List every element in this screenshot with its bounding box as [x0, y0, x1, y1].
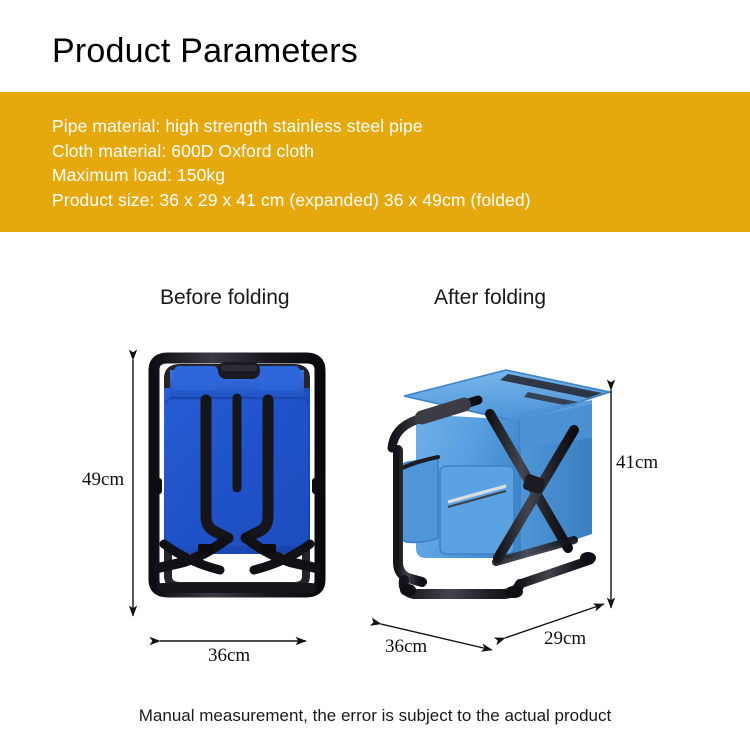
spec-product-size: Product size: 36 x 29 x 41 cm (expanded)…: [52, 188, 531, 213]
dimension-label-height-before: 49cm: [82, 469, 124, 491]
product-parameters-page: Product Parameters Pipe material: high s…: [0, 0, 750, 750]
spec-maximum-load: Maximum load: 150kg: [52, 163, 531, 188]
page-title: Product Parameters: [52, 29, 358, 73]
dimension-label-width-before: 36cm: [208, 645, 250, 667]
caption-before-folding: Before folding: [160, 284, 290, 312]
product-image-before-folding: [128, 348, 346, 628]
spec-pipe-material: Pipe material: high strength stainless s…: [52, 114, 531, 139]
specification-list: Pipe material: high strength stainless s…: [52, 114, 531, 212]
footer-note: Manual measurement, the error is subject…: [0, 706, 750, 726]
dimension-label-height-after: 41cm: [616, 452, 658, 474]
dimension-label-width-after: 36cm: [385, 636, 427, 658]
product-image-after-folding: [378, 352, 628, 627]
dimension-label-depth-after: 29cm: [544, 628, 586, 650]
spec-cloth-material: Cloth material: 600D Oxford cloth: [52, 139, 531, 164]
specification-band: Pipe material: high strength stainless s…: [0, 92, 750, 232]
caption-after-folding: After folding: [434, 284, 546, 312]
